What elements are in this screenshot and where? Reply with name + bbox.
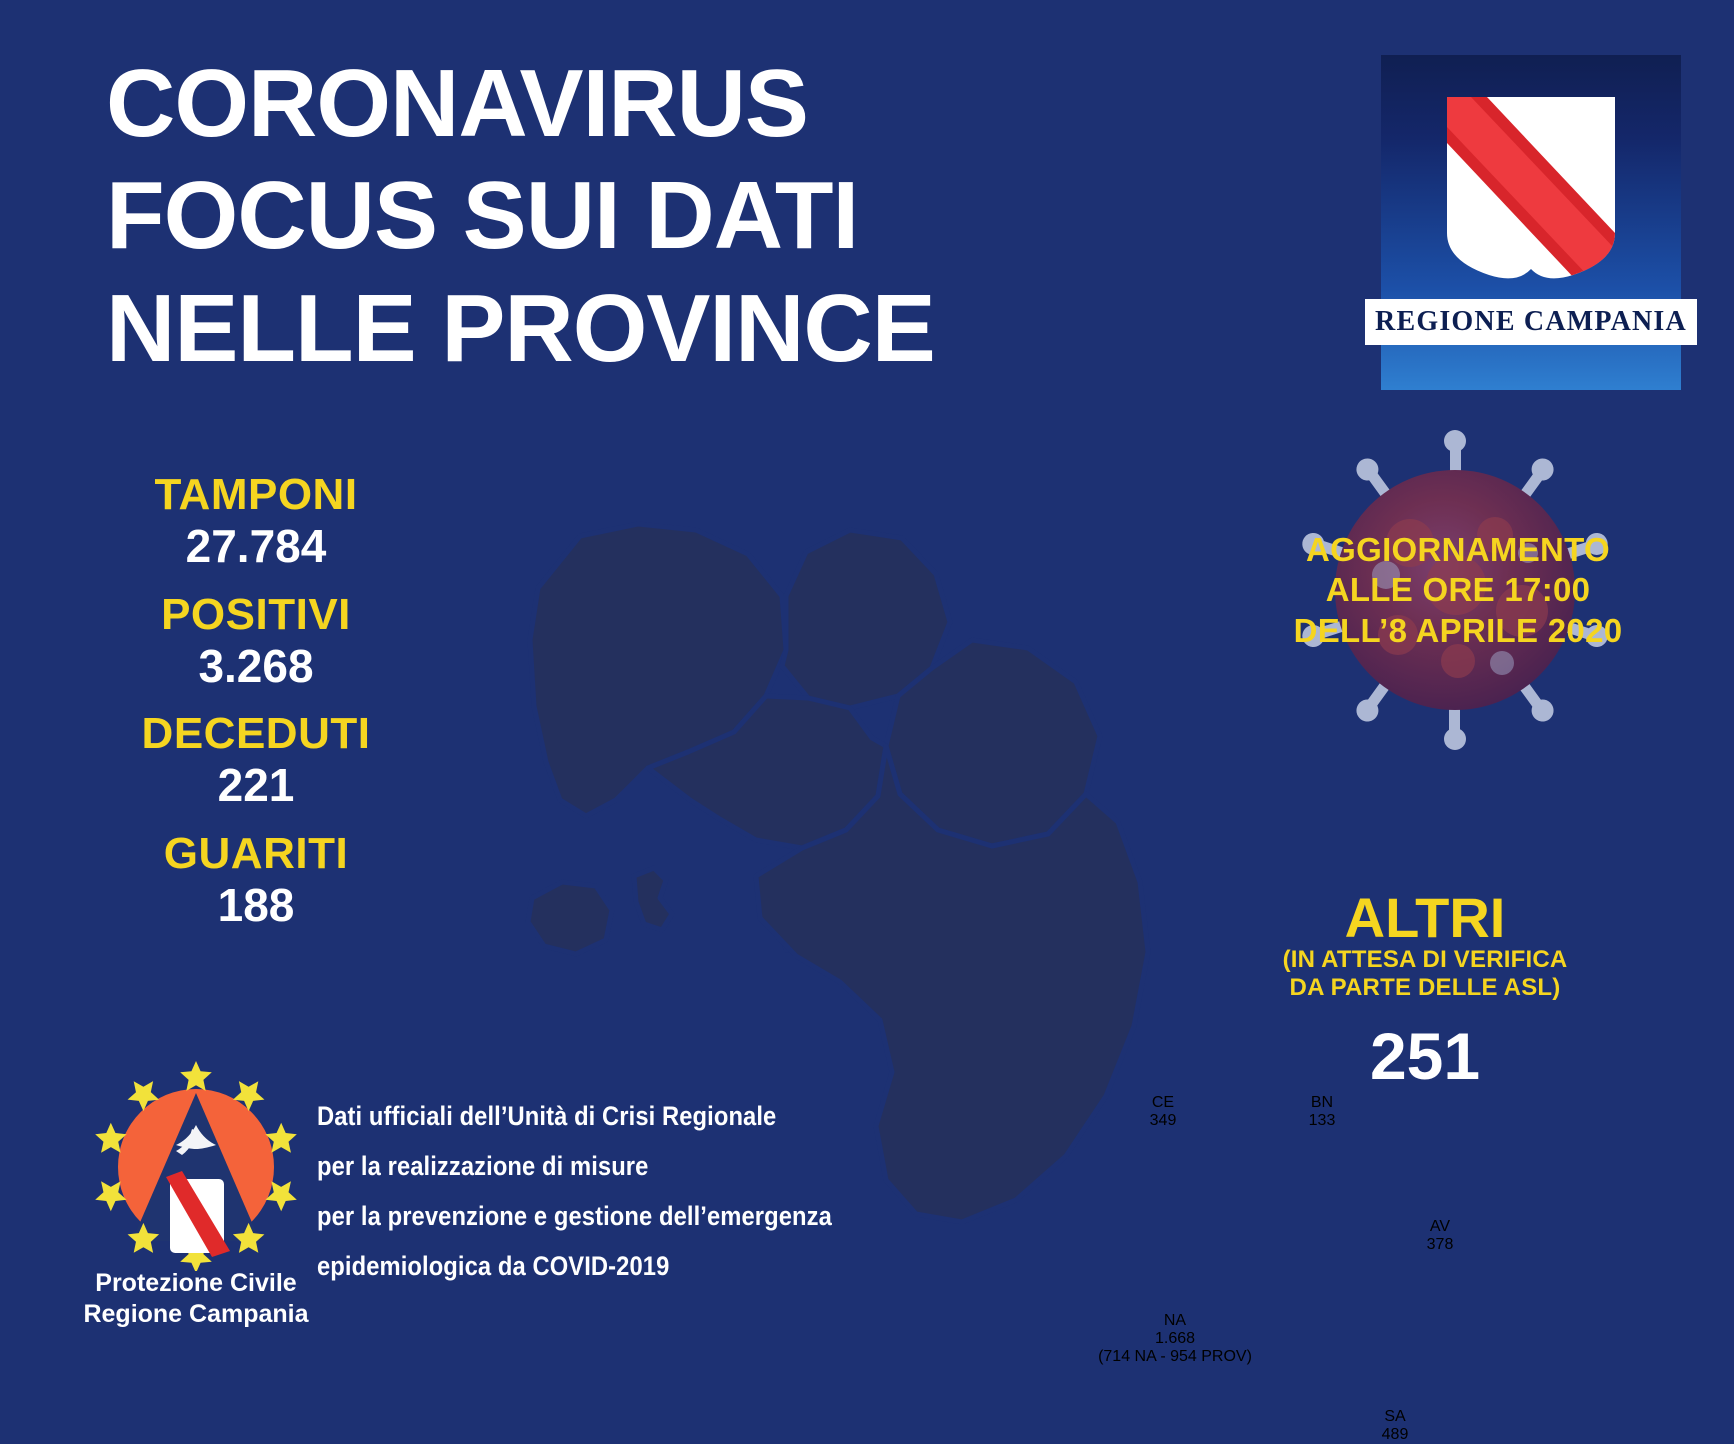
altri-sub-1: (IN ATTESA DI VERIFICA [1225,946,1625,974]
map-abbr-ce: CE [1073,1094,1253,1112]
map-label-na: NA 1.668 (714 NA - 954 PROV) [1040,1312,1310,1366]
infographic-root: CORONAVIRUS FOCUS SUI DATI NELLE PROVINC… [0,0,1734,1421]
stat-label-guariti: GUARITI [106,829,406,878]
footer-note: Dati ufficiali dell’Unità di Crisi Regio… [317,1092,863,1292]
map-label-ce: CE 349 [1073,1094,1253,1130]
title-line-3: NELLE PROVINCE [106,273,1186,385]
map-abbr-av: AV [1350,1218,1530,1236]
stat-label-deceduti: DECEDUTI [106,709,406,758]
note-line-2: per la realizzazione di misure [317,1142,863,1192]
pc-caption-line-2: Regione Campania [60,1299,332,1330]
page-title: CORONAVIRUS FOCUS SUI DATI NELLE PROVINC… [106,48,1186,385]
map-value-av: 378 [1350,1236,1530,1254]
stats-panel: TAMPONI 27.784 POSITIVI 3.268 DECEDUTI 2… [106,470,406,948]
update-line-1: AGGIORNAMENTO [1272,530,1644,570]
map-label-bn: BN 133 [1232,1094,1412,1130]
update-timestamp: AGGIORNAMENTO ALLE ORE 17:00 DELL’8 APRI… [1272,530,1644,651]
map-value-na: 1.668 [1040,1330,1310,1348]
update-line-3: DELL’8 APRILE 2020 [1272,611,1644,651]
stat-value-tamponi: 27.784 [106,519,406,573]
regione-campania-logo: REGIONE CAMPANIA [1381,55,1681,390]
update-line-2: ALLE ORE 17:00 [1272,570,1644,610]
map-island-ischia [528,882,612,954]
pc-caption-line-1: Protezione Civile [60,1268,332,1299]
note-line-4: epidemiologica da COVID-2019 [317,1242,863,1292]
map-abbr-sa: SA [1300,1408,1490,1426]
map-label-sa: SA 489 [1300,1408,1490,1444]
title-line-1: CORONAVIRUS [106,48,1186,160]
stat-value-positivi: 3.268 [106,639,406,693]
stat-label-positivi: POSITIVI [106,590,406,639]
map-abbr-bn: BN [1232,1094,1412,1112]
protezione-civile-logo-icon [88,1055,304,1271]
altri-sub-2: DA PARTE DELLE ASL) [1225,974,1625,1002]
map-value-sa: 489 [1300,1426,1490,1444]
map-subvalue-na: (714 NA - 954 PROV) [1040,1348,1310,1366]
title-line-2: FOCUS SUI DATI [106,160,1186,272]
altri-title: ALTRI [1225,890,1625,946]
map-label-av: AV 378 [1350,1218,1530,1254]
protezione-civile-caption: Protezione Civile Regione Campania [60,1268,332,1329]
campania-shield-icon [1441,93,1621,283]
map-abbr-na: NA [1040,1312,1310,1330]
stat-label-tamponi: TAMPONI [106,470,406,519]
stat-value-deceduti: 221 [106,758,406,812]
note-line-1: Dati ufficiali dell’Unità di Crisi Regio… [317,1092,863,1142]
altri-block: ALTRI (IN ATTESA DI VERIFICA DA PARTE DE… [1225,890,1625,1089]
altri-value: 251 [1225,1023,1625,1089]
regione-campania-caption: REGIONE CAMPANIA [1365,299,1697,345]
stat-value-guariti: 188 [106,878,406,932]
map-island-procida [634,868,672,930]
note-line-3: per la prevenzione e gestione dell’emerg… [317,1192,863,1242]
map-value-ce: 349 [1073,1112,1253,1130]
map-value-bn: 133 [1232,1112,1412,1130]
